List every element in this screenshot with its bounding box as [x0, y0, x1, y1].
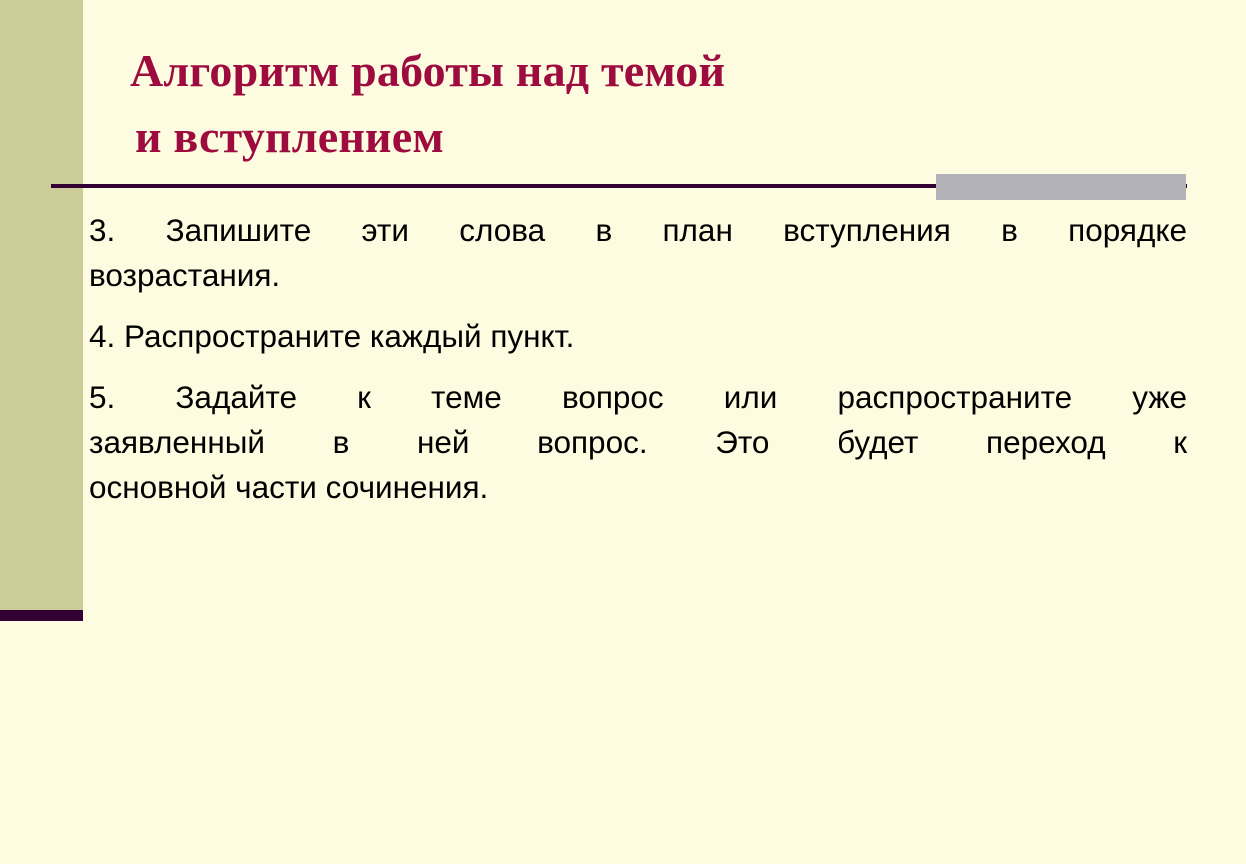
list-item-line: возрастания. [89, 253, 1187, 298]
list-item: 3. Запишите эти слова в план вступления … [89, 208, 1187, 298]
list-item-line: основной части сочинения. [89, 465, 1187, 510]
list-item: 5. Задайте к теме вопрос или распростран… [89, 375, 1187, 510]
left-band-footer-bar [0, 610, 83, 621]
list-item-line: 5. Задайте к теме вопрос или распростран… [89, 375, 1187, 420]
title-line-1: Алгоритм работы над темой [130, 38, 1180, 104]
title-line-2: и вступлением [135, 104, 1180, 170]
slide-body: 3. Запишите эти слова в план вступления … [89, 208, 1187, 510]
list-item: 4. Распространите каждый пункт. [89, 314, 1187, 359]
list-item-line: 4. Распространите каждый пункт. [89, 314, 1187, 359]
presentation-slide: Алгоритм работы над темой и вступлением … [0, 0, 1246, 864]
list-item-line: 3. Запишите эти слова в план вступления … [89, 208, 1187, 253]
list-item-line: заявленный в ней вопрос. Это будет перех… [89, 420, 1187, 465]
left-decorative-band [0, 0, 83, 610]
slide-title: Алгоритм работы над темой и вступлением [130, 38, 1180, 170]
grey-accent-bar [936, 174, 1186, 200]
